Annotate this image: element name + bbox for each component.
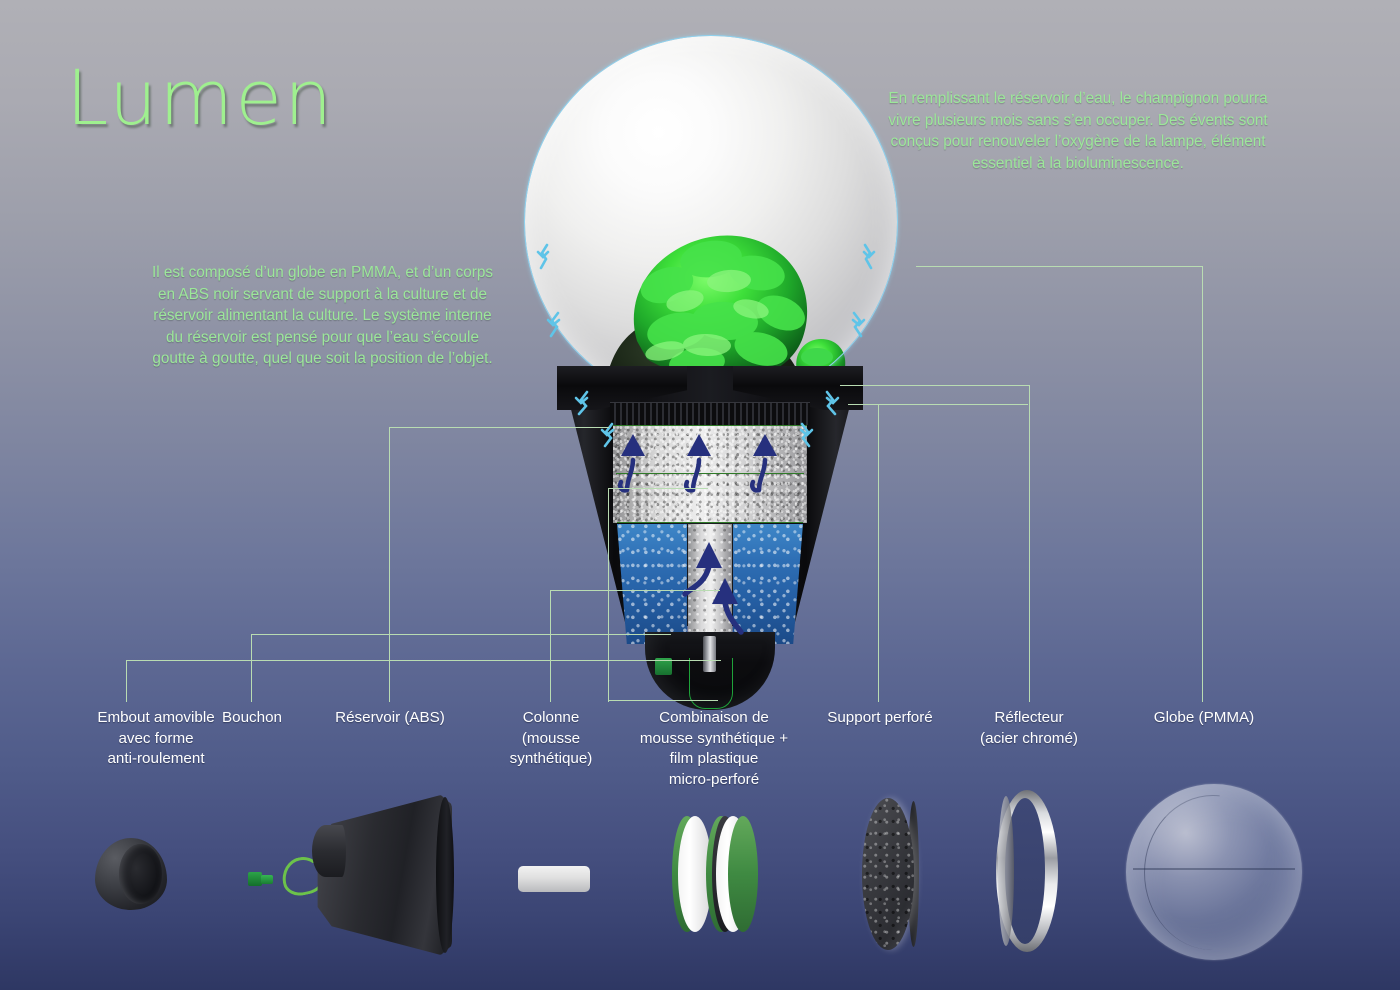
leader-line-support-h xyxy=(848,404,1028,405)
leader-line-reflecteur-h xyxy=(840,385,1030,386)
leader-line-reflecteur-v xyxy=(1029,385,1030,702)
globe-equator-line xyxy=(1133,868,1295,870)
leader-line-globe-h xyxy=(916,266,1203,267)
part-perforated-support xyxy=(862,798,914,950)
reservoir-mouth xyxy=(436,797,454,953)
caption-colonne: Colonne (mousse synthétique) xyxy=(496,708,606,770)
water-rise-arrows xyxy=(675,528,761,648)
caption-combi-line3: film plastique xyxy=(618,749,810,770)
caption-reflecteur-line1: Réflecteur xyxy=(960,708,1098,729)
caption-combi-line4: micro-perforé xyxy=(618,770,810,791)
description-paragraph-left: Il est composé d’un globe en PMMA, et d’… xyxy=(150,262,495,370)
part-abs-reservoir xyxy=(312,795,452,955)
part-bouchon-cap xyxy=(248,868,276,890)
caption-globe: Globe (PMMA) xyxy=(1142,708,1266,729)
globe-cut-edge xyxy=(1144,795,1282,951)
leader-line-reservoir-v xyxy=(389,427,390,702)
film-disc-green-3 xyxy=(728,816,758,932)
end-cap-cavity xyxy=(119,844,162,904)
caption-reflecteur: Réflecteur (acier chromé) xyxy=(960,708,1098,749)
poster-canvas: Lumen Il est composé d’un globe en PMMA,… xyxy=(0,0,1400,990)
caption-reservoir: Réservoir (ABS) xyxy=(326,708,454,729)
perforated-support-face xyxy=(862,798,914,950)
air-vent-arrows xyxy=(505,216,915,486)
leader-line-combi-v xyxy=(608,488,609,702)
caption-endcap-line3: anti-roulement xyxy=(56,749,256,770)
leader-line-reservoir-h xyxy=(389,427,609,428)
caption-combi-line2: mousse synthétique + xyxy=(618,729,810,750)
reflector-lip xyxy=(998,796,1014,946)
description-paragraph-right: En remplissant le réservoir d’eau, le ch… xyxy=(888,88,1268,174)
bulb-cutaway-illustration xyxy=(505,36,915,676)
caption-colonne-line3: synthétique) xyxy=(496,749,606,770)
caption-bouchon: Bouchon xyxy=(196,708,308,729)
caption-reflecteur-line2: (acier chromé) xyxy=(960,729,1098,750)
caption-combi: Combinaison de mousse synthétique + film… xyxy=(618,708,810,790)
leader-line-endcap-h xyxy=(126,660,721,661)
caption-colonne-line1: Colonne xyxy=(496,708,606,729)
caption-combi-line1: Combinaison de xyxy=(618,708,810,729)
leader-line-globe-v xyxy=(1202,266,1203,702)
reservoir-neck xyxy=(312,825,346,877)
caption-support: Support perforé xyxy=(812,708,948,729)
leader-line-bouchon-v xyxy=(251,634,252,702)
bouchon-stem xyxy=(261,875,273,884)
part-foam-column xyxy=(518,866,590,892)
leader-line-combi-h2 xyxy=(608,700,718,701)
leader-line-combi-h xyxy=(608,488,708,489)
part-foam-film-stack xyxy=(672,816,758,932)
leader-line-endcap-v xyxy=(126,660,127,702)
part-removable-end-cap xyxy=(95,838,167,910)
part-chrome-reflector-ring xyxy=(996,790,1058,952)
bouchon-knob xyxy=(248,872,262,886)
leader-line-colonne-v xyxy=(550,590,551,702)
caption-colonne-line2: (mousse xyxy=(496,729,606,750)
page-title: Lumen xyxy=(66,60,334,136)
leader-line-colonne-h xyxy=(550,590,720,591)
leader-line-support-v xyxy=(878,404,879,702)
part-pmma-globe xyxy=(1126,784,1302,960)
caption-endcap-line2: avec forme xyxy=(56,729,256,750)
